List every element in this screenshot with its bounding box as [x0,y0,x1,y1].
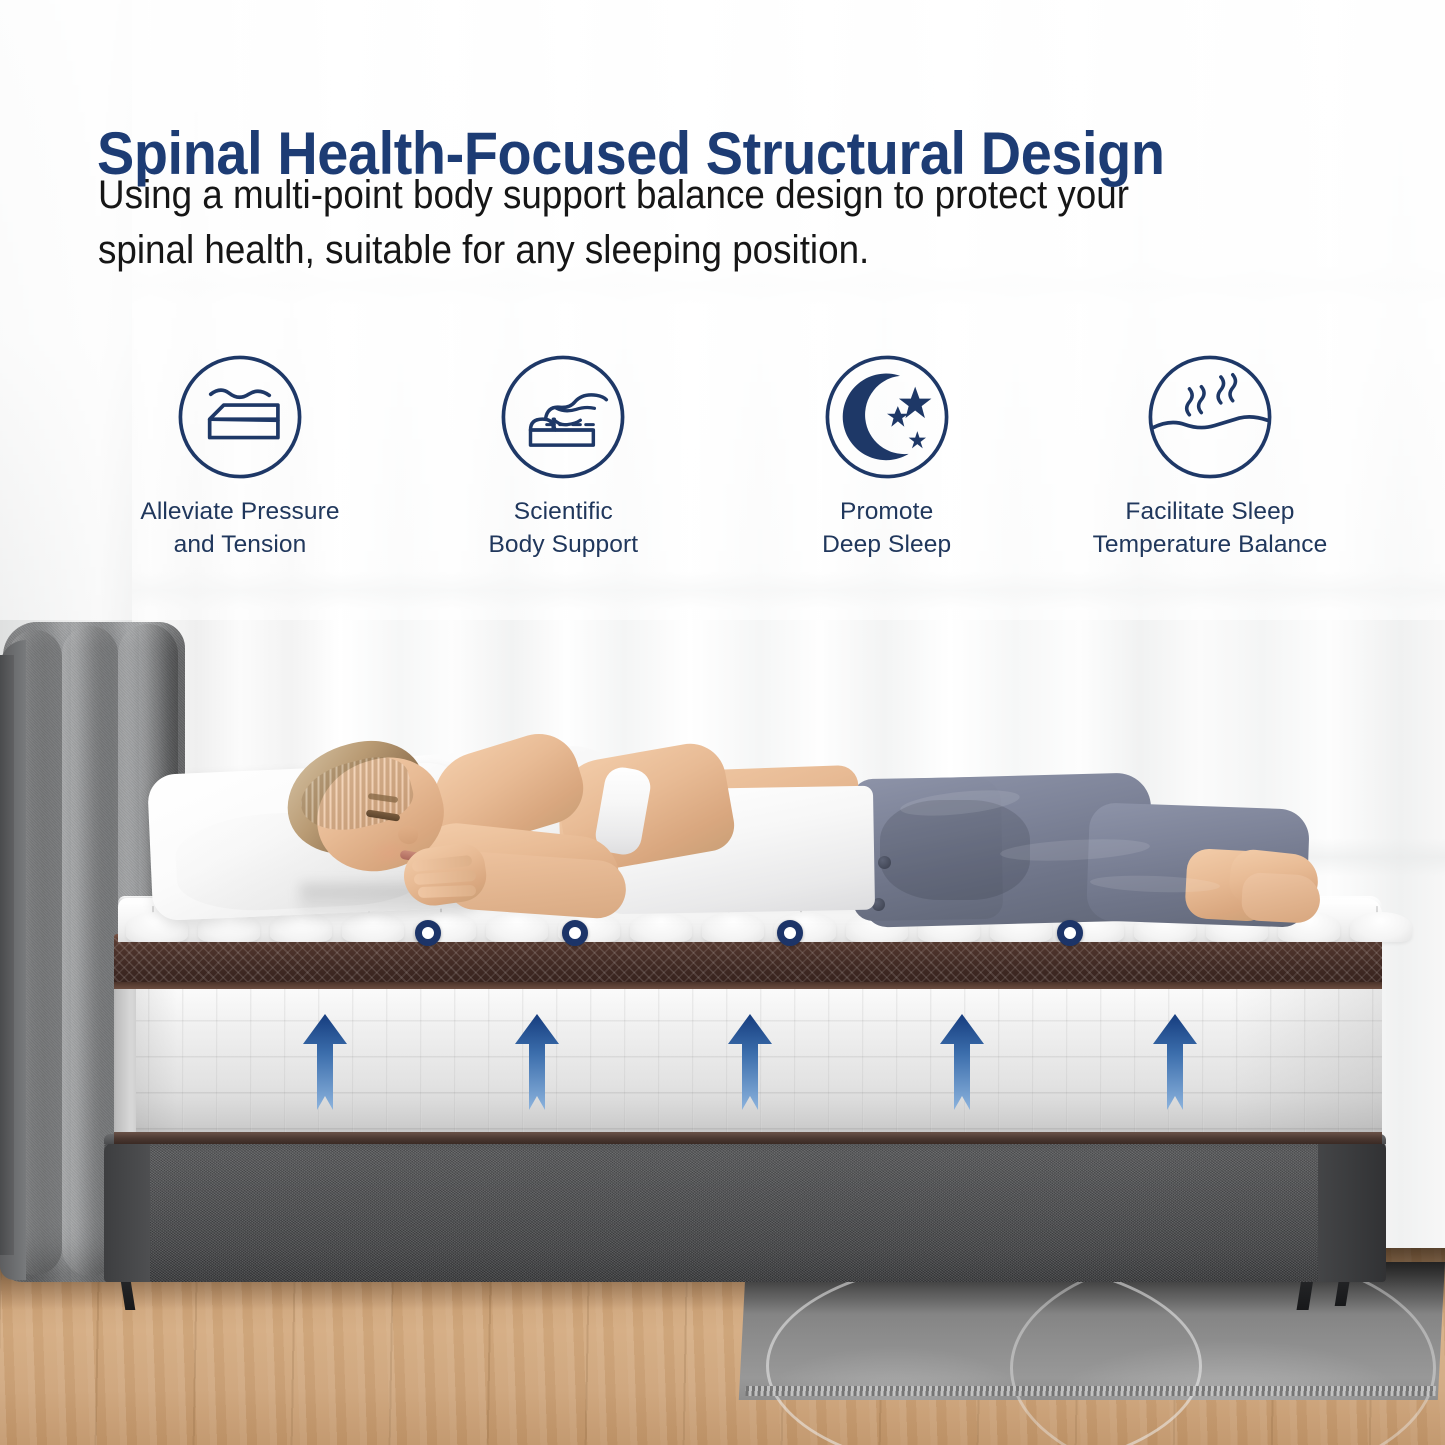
model-foot [1241,872,1321,924]
pajama-button [878,856,891,869]
mesh-band-texture [114,938,1382,988]
feature-benefits-row: Alleviate Pressure and Tension Scientifi… [90,352,1360,582]
support-arrow [936,1014,988,1110]
mattress-bottom-trim [114,1132,1382,1144]
pressure-point-marker [562,920,588,946]
feature-label: Alleviate Pressure and Tension [140,496,339,561]
pillow-top-puff [1350,912,1412,942]
support-arrow [1149,1014,1201,1110]
page-subtitle: Using a multi-point body support balance… [98,168,1285,278]
product-feature-graphic: Spinal Health-Focused Structural Design … [0,0,1445,1445]
feature-item-scientific-body-support: Scientific Body Support [413,352,713,582]
feature-item-temperature-balance: Facilitate Sleep Temperature Balance [1060,352,1360,582]
model-finger [418,885,476,898]
support-arrow [299,1014,351,1110]
pressure-point-marker [777,920,803,946]
rug-fringe [745,1386,1436,1396]
bed-base-fabric-texture [104,1138,1386,1282]
body-support-posture-icon [498,352,628,482]
moon-stars-icon [822,352,952,482]
subtitle-line-1: Using a multi-point body support balance… [98,168,1285,223]
pressure-point-marker [1057,920,1083,946]
support-arrow [724,1014,776,1110]
heat-waves-breathability-icon [1145,352,1275,482]
bed-base-left-edge [104,1142,150,1282]
mesh-band-bottom-trim [114,982,1382,989]
feature-label: Promote Deep Sleep [822,496,951,561]
feature-item-alleviate-pressure: Alleviate Pressure and Tension [90,352,390,582]
mattress-left-edge [114,984,136,1144]
mattress-pressure-relief-icon [175,352,305,482]
headboard-back-edge [0,655,14,1255]
feature-item-promote-deep-sleep: Promote Deep Sleep [737,352,1037,582]
support-arrow [511,1014,563,1110]
pressure-point-marker [415,920,441,946]
subtitle-line-2: spinal health, suitable for any sleeping… [98,223,1285,278]
feature-label: Scientific Body Support [488,496,638,561]
bed-base-right-edge [1318,1140,1386,1282]
feature-label: Facilitate Sleep Temperature Balance [1093,496,1328,561]
